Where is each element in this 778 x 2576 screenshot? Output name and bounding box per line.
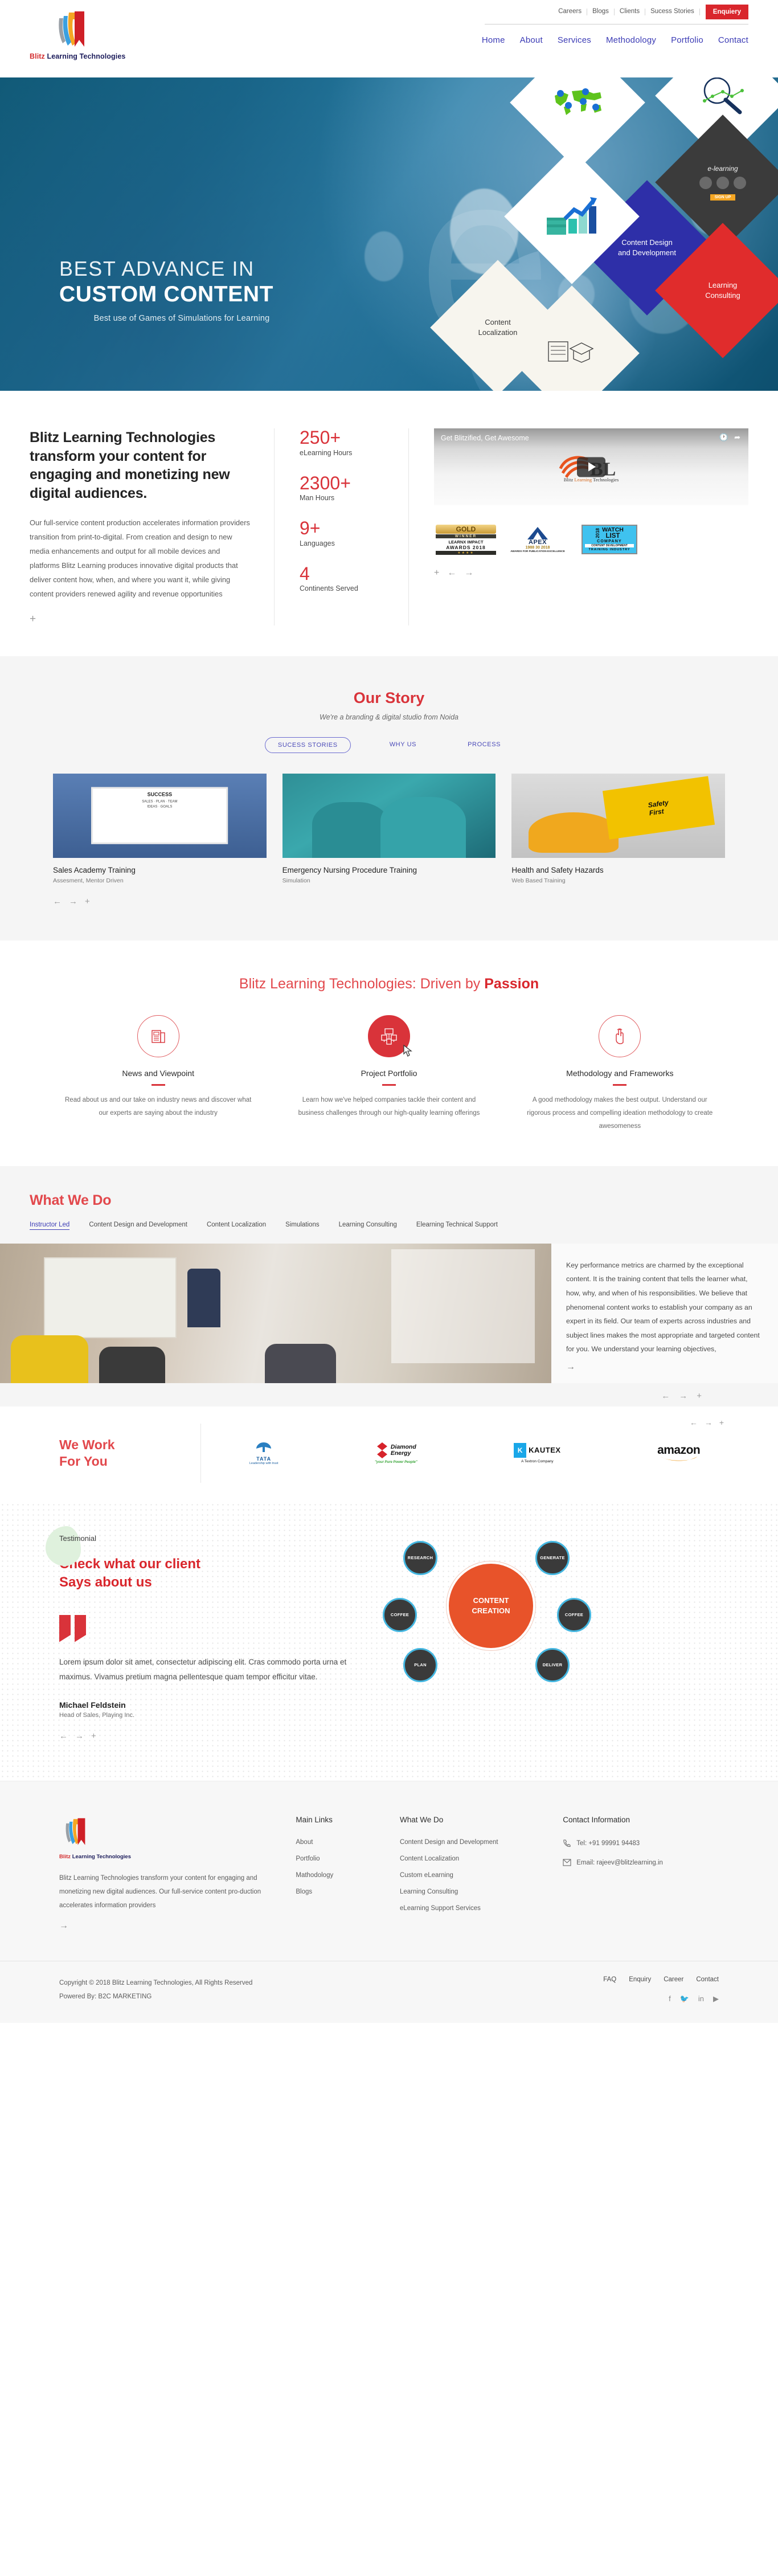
story-tab-why-us[interactable]: WHY US [377, 737, 429, 753]
hero-headline-line1: BEST ADVANCE IN [59, 257, 378, 281]
nav-item-home[interactable]: Home [482, 35, 505, 45]
award-badge-apex-awards: APEX 1988 30 2018 AWARDS FOR PUBLICATION… [506, 525, 570, 554]
header-divider [485, 24, 748, 24]
facebook-icon[interactable]: f [669, 1994, 671, 2003]
intro-next-button[interactable]: → [464, 568, 473, 578]
passion-item-project-portfolio[interactable]: Project Portfolio Learn how we've helped… [284, 1015, 494, 1133]
footer-brand: Blitz Learning Technologies Blitz Learni… [59, 1816, 296, 1931]
passion-item-rule [613, 1084, 627, 1086]
story-card[interactable]: SUCCESS SALES · PLAN · TEAMIDEAS · GOALS… [53, 774, 267, 884]
site-header: Blitz Learning Technologies Careers Blog… [0, 0, 778, 77]
video-logo-caption: Blitz Learning Technologies [564, 477, 619, 483]
stat-item: 2300+ Man Hours [300, 474, 408, 502]
testimonial-author: Michael Feldstein [59, 1700, 383, 1710]
magnifier-network-icon [698, 77, 748, 116]
surgery-team-photo [282, 774, 496, 858]
footer-column-heading: Contact Information [563, 1816, 748, 1824]
stat-value: 250+ [300, 428, 408, 448]
footer-copyright: Copyright © 2018 Blitz Learning Technolo… [59, 1976, 252, 1990]
clients-next-button[interactable]: → [705, 1418, 713, 1427]
safety-first-sign-photo: SafetyFirst [511, 774, 725, 858]
wheel-center-line1: CONTENT [473, 1596, 509, 1606]
story-card-title: Emergency Nursing Procedure Training [282, 866, 496, 874]
story-next-button[interactable]: → [69, 897, 77, 906]
what-we-do-body-text: Key performance metrics are charmed by t… [566, 1258, 762, 1356]
intro-expand-control[interactable]: + [434, 568, 439, 578]
wwd-prev-button[interactable]: ← [661, 1391, 670, 1401]
passion-heading-bold: Passion [484, 976, 539, 992]
hero-tile-label: ContentLocalization [478, 317, 518, 337]
diamond-energy-logo-tagline: "your Pure Power People" [375, 1461, 417, 1464]
awards-row: GOLD WINNER LEARNX IMPACT AWARDS 2018 ★★… [434, 525, 748, 554]
footer-link-content-localization[interactable]: Content Localization [400, 1855, 563, 1862]
clock-icon[interactable]: 🕐 [719, 433, 728, 442]
hero-tile-label: LearningConsulting [705, 280, 740, 300]
story-card-subtitle: Assesment, Mentor Driven [53, 877, 267, 884]
story-card-title: Health and Safety Hazards [511, 866, 725, 874]
testimonial-next-button[interactable]: → [75, 1731, 84, 1741]
story-card-subtitle: Simulation [282, 877, 496, 884]
story-card[interactable]: Emergency Nursing Procedure Training Sim… [282, 774, 496, 884]
wheel-node-coffee-left[interactable]: COFFEE [383, 1598, 417, 1632]
our-story-section: Our Story We're a branding & digital stu… [0, 656, 778, 941]
intro-carousel-controls: + ← → [434, 568, 748, 578]
nav-item-about[interactable]: About [520, 35, 543, 45]
story-subheading: We're a branding & digital studio from N… [0, 713, 778, 721]
landing-page: Blitz Learning Technologies Careers Blog… [0, 0, 778, 2023]
testimonial-expand-control[interactable]: + [91, 1731, 96, 1741]
clients-heading-line1: We Work [59, 1437, 115, 1452]
what-we-do-section: What We Do Instructor Led Content Design… [0, 1166, 778, 1406]
passion-item-title: News and Viewpoint [53, 1069, 263, 1078]
utility-link-sucess-stories[interactable]: Sucess Stories [645, 9, 700, 15]
wwd-next-button[interactable]: → [679, 1391, 687, 1401]
portfolio-grid-icon [368, 1015, 410, 1057]
footer-bottom-link-contact[interactable]: Contact [696, 1976, 719, 1983]
nav-item-portfolio[interactable]: Portfolio [671, 35, 703, 45]
clients-section: ← → + We Work For You TATA Leadership wi… [0, 1406, 778, 1502]
logo-wordmark: Blitz Learning Technologies [30, 52, 144, 60]
clients-heading-line2: For You [59, 1454, 108, 1469]
media-block: Get Blitzified, Get Awesome 🕐 ➦ BL B [409, 428, 748, 625]
passion-item-rule [151, 1084, 165, 1086]
nav-item-contact[interactable]: Contact [718, 35, 748, 45]
stat-value: 2300+ [300, 474, 408, 493]
content-creation-wheel: CONTENT CREATION RESEARCH GENERATE COFFE… [383, 1534, 748, 1688]
passion-item-methodology-and-frameworks[interactable]: Methodology and Frameworks A good method… [515, 1015, 725, 1133]
footer-logo-wordmark: Blitz Learning Technologies [59, 1854, 261, 1860]
intro-paragraph: Our full-service content production acce… [30, 516, 251, 602]
what-we-do-text-panel: Key performance metrics are charmed by t… [551, 1244, 778, 1383]
passion-item-rule [382, 1084, 396, 1086]
wwd-tab-content-design-and-development[interactable]: Content Design and Development [89, 1221, 187, 1230]
passion-columns: News and Viewpoint Read about us and our… [53, 1015, 725, 1133]
testimonial-heading: Check what our client Says about us [59, 1555, 383, 1592]
intro-expand-button[interactable]: + [30, 613, 36, 625]
enquiry-button[interactable]: Enquiery [706, 5, 748, 19]
intro-heading: Blitz Learning Technologies transform yo… [30, 428, 251, 502]
clients-expand-control[interactable]: + [719, 1418, 724, 1427]
intro-section: Blitz Learning Technologies transform yo… [0, 391, 778, 656]
passion-heading: Blitz Learning Technologies: Driven by P… [0, 976, 778, 992]
youtube-icon[interactable]: ▶ [713, 1994, 719, 2003]
testimonial-heading-line2: Says about us [59, 1575, 152, 1590]
stat-value: 4 [300, 565, 408, 584]
video-title: Get Blitzified, Get Awesome [441, 434, 529, 442]
wwd-tab-content-localization[interactable]: Content Localization [207, 1221, 266, 1230]
classroom-training-photo [0, 1244, 551, 1383]
footer-link-content-design-and-development[interactable]: Content Design and Development [400, 1839, 563, 1846]
wheel-node-coffee-right[interactable]: COFFEE [557, 1598, 591, 1632]
utility-link-careers[interactable]: Careers [553, 9, 587, 15]
logo-rest: Learning Technologies [45, 52, 126, 60]
clients-heading: We Work For You [30, 1437, 200, 1470]
play-icon[interactable] [577, 457, 605, 477]
main-nav: Home About Services Methodology Portfoli… [482, 35, 748, 45]
wwd-tab-simulations[interactable]: Simulations [285, 1221, 319, 1230]
footer-bottom-link-faq[interactable]: FAQ [603, 1976, 616, 1983]
story-tab-sucess-stories[interactable]: SUCESS STORIES [265, 737, 351, 753]
wwd-expand-control[interactable]: + [697, 1391, 702, 1401]
linkedin-icon[interactable]: in [698, 1994, 704, 2003]
stat-label: Languages [300, 539, 408, 547]
amazon-logo-title: amazon [657, 1444, 700, 1456]
passion-heading-light: Blitz Learning Technologies: Driven by [239, 976, 484, 992]
nav-item-services[interactable]: Services [558, 35, 591, 45]
passion-item-text: Read about us and our take on industry n… [53, 1094, 263, 1120]
wheel-center: CONTENT CREATION [447, 1561, 535, 1650]
hero-banner: e BEST ADVANCE IN CUSTOM CONTENT Best us… [0, 77, 778, 391]
footer-logo-icon [59, 1816, 261, 1851]
story-tabs: SUCESS STORIES WHY US PROCESS [0, 737, 778, 753]
footer-bottom-bar: Copyright © 2018 Blitz Learning Technolo… [0, 1961, 778, 2023]
story-heading: Our Story [0, 689, 778, 707]
phone-icon [563, 1839, 571, 1847]
hand-tap-icon [599, 1015, 641, 1057]
testimonial-content: Testimonial Check what our client Says a… [30, 1534, 383, 1741]
footer-link-portfolio[interactable]: Portfolio [296, 1855, 400, 1862]
what-we-do-heading: What We Do [30, 1192, 748, 1209]
success-mind-map-photo: SUCCESS SALES · PLAN · TEAMIDEAS · GOALS [53, 774, 267, 858]
utility-link-blogs[interactable]: Blogs [587, 9, 615, 15]
clients-logo-row: TATA Leadership with trust DiamondEnergy… [200, 1424, 748, 1483]
nav-item-methodology[interactable]: Methodology [606, 35, 656, 45]
story-cards: SUCCESS SALES · PLAN · TEAMIDEAS · GOALS… [53, 774, 725, 884]
wheel-node-deliver[interactable]: DELIVER [535, 1648, 570, 1682]
passion-item-text: Learn how we've helped companies tackle … [284, 1094, 494, 1120]
testimonial-role: Head of Sales, Playing Inc. [59, 1712, 383, 1719]
story-card[interactable]: SafetyFirst Health and Safety Hazards We… [511, 774, 725, 884]
footer-bottom-link-career[interactable]: Career [664, 1976, 683, 1983]
story-card-subtitle: Web Based Training [511, 877, 725, 884]
what-we-do-carousel-controls: ← → + [30, 1391, 748, 1406]
books-graduation-icon [546, 336, 597, 370]
passion-item-title: Project Portfolio [284, 1069, 494, 1078]
site-footer: Blitz Learning Technologies Blitz Learni… [0, 1781, 778, 2023]
quote-mark-icon [59, 1615, 383, 1642]
wheel-node-plan[interactable]: PLAN [403, 1648, 437, 1682]
world-map-icon [551, 87, 604, 118]
story-card-title: Sales Academy Training [53, 866, 267, 874]
stat-item: 4 Continents Served [300, 565, 408, 593]
kautex-logo: K KAUTEX A Textron Company [514, 1436, 560, 1470]
clients-prev-button[interactable]: ← [690, 1418, 698, 1427]
passion-item-title: Methodology and Frameworks [515, 1069, 725, 1078]
footer-bottom-links: FAQ Enquiry Career Contact [603, 1976, 719, 1983]
wwd-tab-elearning-technical-support[interactable]: Elearning Technical Support [416, 1221, 498, 1230]
footer-email-text: Email: rajeev@blitzlearning.in [576, 1859, 663, 1866]
stat-item: 9+ Languages [300, 519, 408, 547]
twitter-icon[interactable]: 🐦 [680, 1994, 689, 2003]
footer-contact-email[interactable]: Email: rajeev@blitzlearning.in [563, 1859, 748, 1866]
diamond-energy-logo: DiamondEnergy "your Pure Power People" [375, 1436, 417, 1470]
footer-read-more-button[interactable]: → [59, 1921, 68, 1931]
stats-block: 250+ eLearning Hours 2300+ Man Hours 9+ … [275, 428, 409, 625]
story-tab-process[interactable]: PROCESS [455, 737, 513, 753]
passion-section: Blitz Learning Technologies: Driven by P… [0, 941, 778, 1166]
wwd-tab-learning-consulting[interactable]: Learning Consulting [339, 1221, 397, 1230]
footer-phone-text: Tel: +91 99991 94483 [576, 1840, 640, 1847]
story-prev-button[interactable]: ← [53, 897, 62, 906]
utility-link-clients[interactable]: Clients [615, 9, 645, 15]
passion-item-news-and-viewpoint[interactable]: News and Viewpoint Read about us and our… [53, 1015, 263, 1133]
footer-bottom-link-enquiry[interactable]: Enquiry [629, 1976, 651, 1983]
hero-copy: BEST ADVANCE IN CUSTOM CONTENT Best use … [59, 257, 378, 323]
award-badge-learnx-impact-awards-2018: GOLD WINNER LEARNX IMPACT AWARDS 2018 ★★… [434, 525, 498, 554]
testimonial-quote: Lorem ipsum dolor sit amet, consectetur … [59, 1655, 378, 1685]
footer-bottom-right: FAQ Enquiry Career Contact f 🐦 in ▶ [603, 1976, 719, 2003]
wwd-tab-instructor-led[interactable]: Instructor Led [30, 1221, 69, 1230]
footer-link-custom-elearning[interactable]: Custom eLearning [400, 1872, 563, 1879]
what-we-do-tabs: Instructor Led Content Design and Develo… [30, 1221, 748, 1230]
stat-item: 250+ eLearning Hours [300, 428, 408, 457]
clients-carousel-controls: ← → + [690, 1418, 724, 1427]
blitz-logo-icon [50, 8, 92, 51]
footer-link-learning-consulting[interactable]: Learning Consulting [400, 1888, 563, 1895]
wheel-node-research[interactable]: RESEARCH [403, 1541, 437, 1575]
kautex-logo-tagline: A Textron Company [521, 1459, 554, 1463]
hero-headline-line2: CUSTOM CONTENT [59, 282, 378, 307]
testimonial-kicker: Testimonial [59, 1534, 383, 1543]
tata-logo-tagline: Leadership with trust [249, 1462, 279, 1465]
passion-item-text: A good methodology makes the best output… [515, 1094, 725, 1133]
testimonial-carousel-controls: ← → + [59, 1731, 383, 1741]
footer-contact-phone[interactable]: Tel: +91 99991 94483 [563, 1839, 748, 1847]
footer-column-what-we-do: What We Do Content Design and Developmen… [400, 1816, 563, 1931]
hero-subtitle: Best use of Games of Simulations for Lea… [59, 314, 304, 323]
footer-link-about[interactable]: About [296, 1839, 400, 1846]
amazon-logo: amazon [657, 1436, 700, 1470]
envelope-icon [563, 1859, 571, 1866]
promo-video-player[interactable]: Get Blitzified, Get Awesome 🕐 ➦ BL B [434, 428, 748, 505]
site-logo[interactable]: Blitz Learning Technologies [30, 8, 144, 60]
stat-label: Continents Served [300, 584, 408, 592]
share-icon[interactable]: ➦ [734, 433, 740, 442]
footer-link-elearning-support-services[interactable]: eLearning Support Services [400, 1905, 563, 1912]
story-expand-control[interactable]: + [85, 897, 90, 906]
footer-column-contact: Contact Information Tel: +91 99991 94483… [563, 1816, 748, 1931]
intro-text-block: Blitz Learning Technologies transform yo… [30, 428, 275, 625]
footer-legal: Copyright © 2018 Blitz Learning Technolo… [59, 1976, 252, 2003]
wheel-node-generate[interactable]: GENERATE [535, 1541, 570, 1575]
footer-link-mathodology[interactable]: Mathodology [296, 1872, 400, 1879]
testimonial-prev-button[interactable]: ← [59, 1731, 68, 1741]
tata-logo: TATA Leadership with trust [249, 1436, 279, 1470]
testimonial-section: Testimonial Check what our client Says a… [0, 1502, 778, 1781]
what-we-do-body: Key performance metrics are charmed by t… [0, 1244, 778, 1383]
footer-column-heading: Main Links [296, 1816, 400, 1824]
footer-powered-by: Powered By: B2C MARKETING [59, 1990, 252, 2003]
footer-column-main-links: Main Links About Portfolio Mathodology B… [296, 1816, 400, 1931]
stat-label: eLearning Hours [300, 449, 408, 457]
stat-label: Man Hours [300, 494, 408, 502]
hero-tile-label: Content Designand Development [618, 238, 676, 257]
footer-column-heading: What We Do [400, 1816, 563, 1824]
story-carousel-controls: ← → + [53, 897, 725, 906]
kautex-logo-title: KAUTEX [529, 1446, 560, 1454]
stat-value: 9+ [300, 519, 408, 538]
diamond-energy-logo-title: DiamondEnergy [391, 1444, 416, 1457]
tata-logo-title: TATA [256, 1456, 271, 1462]
what-we-do-read-more-button[interactable]: → [566, 1362, 575, 1372]
footer-description: Blitz Learning Technologies transform yo… [59, 1871, 261, 1912]
growth-chart-icon [544, 194, 599, 239]
testimonial-heading-line1: Check what our client [59, 1556, 200, 1572]
footer-social-links: f 🐦 in ▶ [603, 1994, 719, 2003]
footer-link-blogs[interactable]: Blogs [296, 1888, 400, 1895]
award-badge-training-industry-watch-list-2018: 2018 WATCH LIST COMPANY CONTENT DEVELOPM… [578, 525, 641, 554]
wheel-center-line2: CREATION [472, 1606, 510, 1616]
logo-brand: Blitz [30, 52, 45, 60]
utility-nav: Careers Blogs Clients Sucess Stories Enq… [553, 5, 748, 19]
newspaper-icon [137, 1015, 179, 1057]
intro-prev-button[interactable]: ← [447, 568, 456, 578]
